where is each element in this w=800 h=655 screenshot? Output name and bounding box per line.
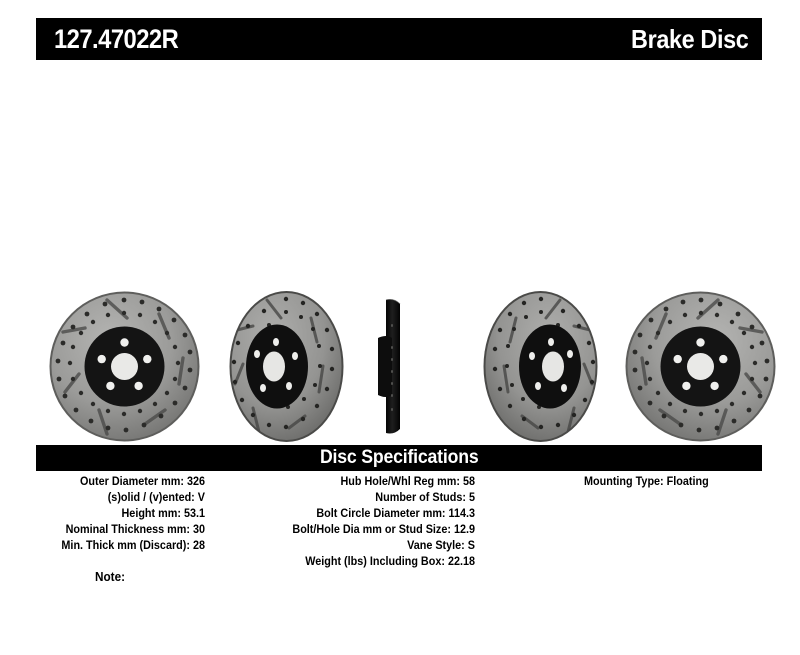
spec-row: Bolt Circle Diameter mm: 114.3 (231, 506, 475, 522)
spec-row: Vane Style: S (231, 538, 475, 554)
spec-row: Weight (lbs) Including Box: 22.18 (231, 554, 475, 570)
spec-column-middle: Hub Hole/Whl Reg mm: 58 Number of Studs:… (215, 474, 475, 570)
part-number-label: 127.47022R (54, 24, 178, 55)
spec-row: (s)olid / (v)ented: V (12, 490, 205, 506)
spec-row: Hub Hole/Whl Reg mm: 58 (231, 474, 475, 490)
note-block: Note: (95, 570, 125, 584)
spec-column-left: Outer Diameter mm: 326 (s)olid / (v)ente… (0, 474, 205, 554)
spec-row: Outer Diameter mm: 326 (12, 474, 205, 490)
spec-header-title: Disc Specifications (320, 447, 479, 469)
product-type-label: Brake Disc (631, 24, 748, 55)
rotor-edge-view (372, 288, 414, 445)
title-bar: 127.47022R Brake Disc (36, 18, 762, 60)
spec-row: Bolt/Hole Dia mm or Stud Size: 12.9 (231, 522, 475, 538)
spec-row: Number of Studs: 5 (231, 490, 475, 506)
spec-row: Mounting Type: Floating (584, 474, 772, 490)
spec-row: Min. Thick mm (Discard): 28 (12, 538, 205, 554)
rotor-angled-left-view (219, 288, 354, 445)
rotor-front-right-view (623, 288, 778, 445)
rotor-angled-right-view (473, 288, 608, 445)
spec-row: Nominal Thickness mm: 30 (12, 522, 205, 538)
rotor-front-left-view (47, 288, 202, 445)
spec-row: Height mm: 53.1 (12, 506, 205, 522)
note-label: Note: (95, 570, 125, 584)
spec-column-right: Mounting Type: Floating (584, 474, 784, 490)
spec-header-bar: Disc Specifications (36, 445, 762, 471)
rotor-gallery (0, 288, 800, 448)
